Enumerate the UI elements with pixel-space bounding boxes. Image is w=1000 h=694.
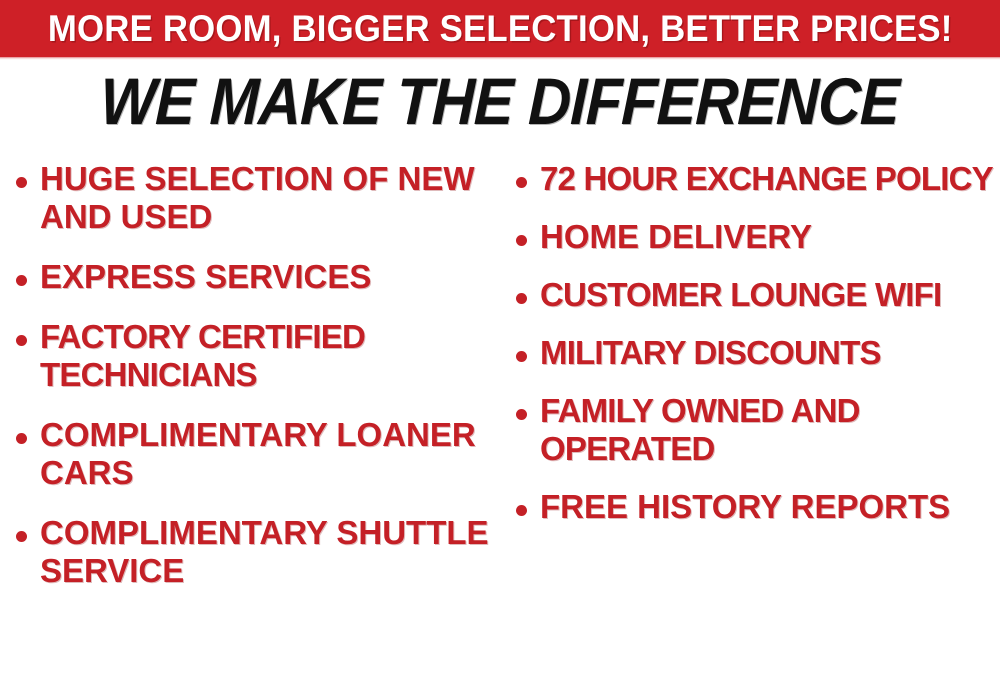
list-item: CUSTOMER LOUNGE WIFI [516,276,1000,314]
feature-label-military-discounts: MILITARY DISCOUNTS [540,334,881,372]
list-item: EXPRESS SERVICES [16,258,500,296]
bullet-dot-icon [16,275,27,286]
features-columns: HUGE SELECTION OF NEW AND USED EXPRESS S… [0,160,1000,694]
list-item: MILITARY DISCOUNTS [516,334,1000,372]
feature-label-complimentary-shuttle-service: COMPLIMENTARY SHUTTLE SERVICE [40,514,492,590]
bullet-dot-icon [516,409,527,420]
list-item: FAMILY OWNED AND OPERATED [516,392,1000,468]
list-item: FREE HISTORY REPORTS [516,488,1000,526]
main-headline: WE MAKE THE DIFFERENCE [100,68,901,134]
top-banner-headline: MORE ROOM, BIGGER SELECTION, BETTER PRIC… [48,10,953,48]
bullet-dot-icon [16,531,27,542]
bullet-dot-icon [516,235,527,246]
feature-label-customer-lounge-wifi: CUSTOMER LOUNGE WIFI [540,276,941,314]
bullet-dot-icon [16,177,27,188]
feature-label-home-delivery: HOME DELIVERY [540,218,812,256]
feature-label-family-owned-and-operated: FAMILY OWNED AND OPERATED [540,392,1000,468]
dealership-promo-banner: MORE ROOM, BIGGER SELECTION, BETTER PRIC… [0,0,1000,694]
feature-label-factory-certified-technicians: FACTORY CERTIFIED TECHNICIANS [40,318,492,394]
feature-label-72-hour-exchange-policy: 72 HOUR EXCHANGE POLICY [540,160,993,198]
list-item: HOME DELIVERY [516,218,1000,256]
bullet-dot-icon [516,505,527,516]
list-item: 72 HOUR EXCHANGE POLICY [516,160,1000,198]
bullet-dot-icon [516,293,527,304]
feature-label-huge-selection: HUGE SELECTION OF NEW AND USED [40,160,492,236]
main-headline-container: WE MAKE THE DIFFERENCE [0,68,1000,134]
bullet-dot-icon [516,177,527,188]
features-column-left: HUGE SELECTION OF NEW AND USED EXPRESS S… [0,160,500,612]
feature-label-free-history-reports: FREE HISTORY REPORTS [540,488,950,526]
bullet-dot-icon [516,351,527,362]
list-item: HUGE SELECTION OF NEW AND USED [16,160,500,236]
list-item: COMPLIMENTARY SHUTTLE SERVICE [16,514,500,590]
banner-underline-divider [0,57,1000,60]
bullet-dot-icon [16,335,27,346]
feature-label-complimentary-loaner-cars: COMPLIMENTARY LOANER CARS [40,416,492,492]
bullet-dot-icon [16,433,27,444]
feature-label-express-services: EXPRESS SERVICES [40,258,371,296]
list-item: COMPLIMENTARY LOANER CARS [16,416,500,492]
features-column-right: 72 HOUR EXCHANGE POLICY HOME DELIVERY CU… [500,160,1000,546]
list-item: FACTORY CERTIFIED TECHNICIANS [16,318,500,394]
top-banner-strip: MORE ROOM, BIGGER SELECTION, BETTER PRIC… [0,0,1000,57]
